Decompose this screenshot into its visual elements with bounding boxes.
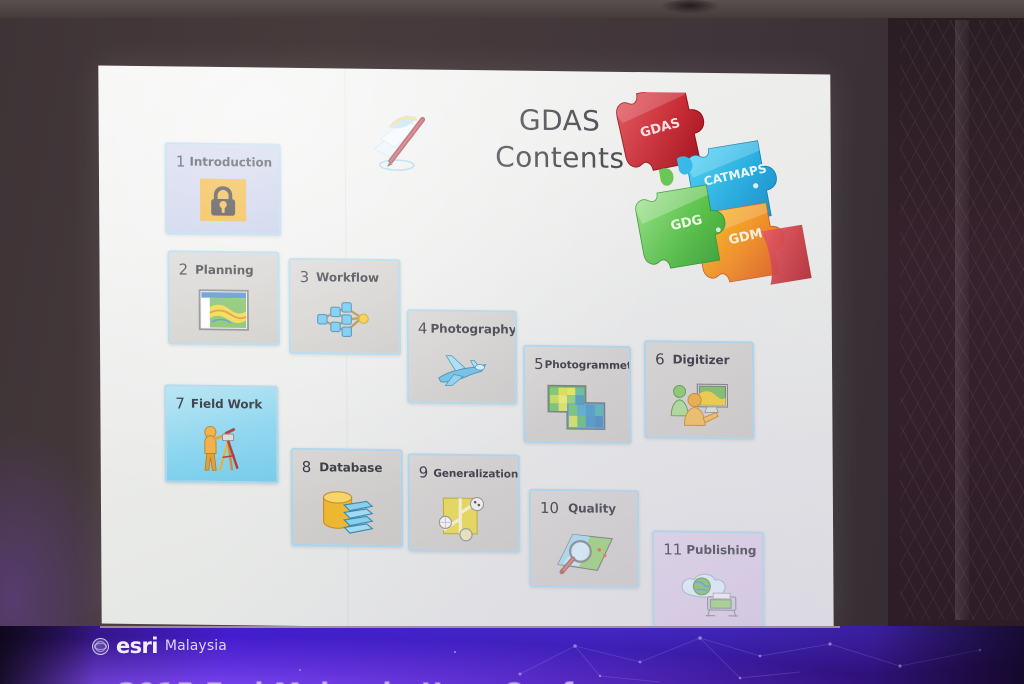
content-item-number: 3 — [300, 268, 310, 286]
content-item-text: Planning — [195, 263, 254, 278]
content-item-number: 8 — [302, 458, 312, 476]
presentation-photo: GDAS Contents — [0, 0, 1024, 684]
airplane-icon — [409, 342, 515, 395]
screen-bottom-edge — [100, 626, 840, 628]
content-item-label: 4Photography — [409, 317, 515, 338]
padlock-icon — [167, 173, 279, 226]
content-item-number: 1 — [176, 152, 186, 170]
content-item-photography[interactable]: 4Photography — [407, 309, 518, 404]
content-item-publishing[interactable]: 11Publishing — [652, 530, 765, 629]
content-item-number: 10 — [540, 499, 559, 517]
content-item-text: Generalization — [433, 468, 518, 481]
banner-left-shadow — [0, 626, 96, 684]
content-item-number: 9 — [419, 463, 429, 481]
content-item-digitizer[interactable]: 6Digitizer — [644, 340, 755, 439]
content-item-label: 6Digitizer — [646, 348, 752, 369]
content-item-number: 2 — [178, 260, 188, 278]
brand-name: esri — [116, 634, 158, 658]
content-item-text: Digitizer — [673, 353, 730, 368]
content-item-number: 5 — [534, 355, 544, 373]
projected-slide: GDAS Contents — [98, 66, 833, 633]
content-item-number: 4 — [418, 319, 428, 337]
map-window-icon — [170, 283, 278, 336]
content-item-text: Publishing — [686, 543, 756, 558]
surveyor-tripod-icon — [166, 421, 276, 474]
brand-region: Malaysia — [165, 638, 227, 654]
content-item-label: 7Field Work — [166, 392, 276, 413]
content-item-quality[interactable]: 10Quality — [529, 489, 640, 588]
content-item-number: 7 — [175, 394, 185, 412]
content-item-label: 10Quality — [531, 497, 637, 518]
stage-banner: esri Malaysia 2015 Esri Malaysia User Co… — [0, 626, 1024, 684]
banner-clipped-headline: 2015 Esri Malaysia User Conf — [118, 678, 574, 684]
content-item-label: 11Publishing — [654, 538, 762, 559]
pencil-writing-on-paper-icon — [371, 105, 431, 176]
content-item-workflow[interactable]: 3Workflow — [288, 258, 401, 355]
content-item-field-work[interactable]: 7Field Work — [164, 384, 279, 483]
esri-logo: esri Malaysia — [92, 634, 227, 658]
ceiling-fixture — [660, 0, 720, 14]
content-item-label: 8Database — [293, 456, 401, 477]
content-item-database[interactable]: 8Database — [291, 448, 404, 547]
content-item-number: 11 — [663, 540, 682, 558]
content-item-label: 9Generalization — [410, 461, 518, 482]
content-item-text: Database — [319, 460, 382, 475]
cloud-globe-plotter-icon — [654, 567, 762, 620]
content-item-label: 5Photogrammetry — [525, 353, 629, 374]
content-item-introduction[interactable]: 1Introduction — [165, 142, 282, 235]
magnifier-map-icon — [531, 526, 637, 579]
content-item-photogrammetry[interactable]: 5Photogrammetry — [523, 345, 632, 444]
content-item-text: Introduction — [189, 155, 272, 170]
content-item-text: Photography — [430, 322, 516, 337]
users-at-monitor-icon — [646, 377, 752, 430]
content-item-generalization[interactable]: 9Generalization — [408, 453, 521, 552]
product-puzzle-graphic: GDAS CATMAPS GDM — [598, 92, 831, 310]
stacked-rasters-icon — [525, 382, 629, 435]
content-item-text: Field Work — [191, 397, 262, 412]
content-item-text: Quality — [568, 501, 616, 516]
content-item-planning[interactable]: 2Planning — [167, 250, 280, 345]
banner-right-shadow — [874, 626, 1024, 684]
content-item-text: Workflow — [316, 270, 379, 285]
database-layers-icon — [293, 485, 401, 538]
slide-title-line1: GDAS — [519, 104, 600, 138]
wall-pillar — [955, 20, 969, 620]
node-graph-icon — [291, 293, 399, 346]
content-item-label: 3Workflow — [291, 266, 399, 287]
content-item-number: 6 — [655, 350, 665, 368]
content-item-text: Photogrammetry — [545, 359, 632, 372]
content-item-label: 2Planning — [169, 258, 277, 279]
map-generalize-icon — [410, 490, 518, 543]
content-item-label: 1Introduction — [167, 150, 279, 171]
